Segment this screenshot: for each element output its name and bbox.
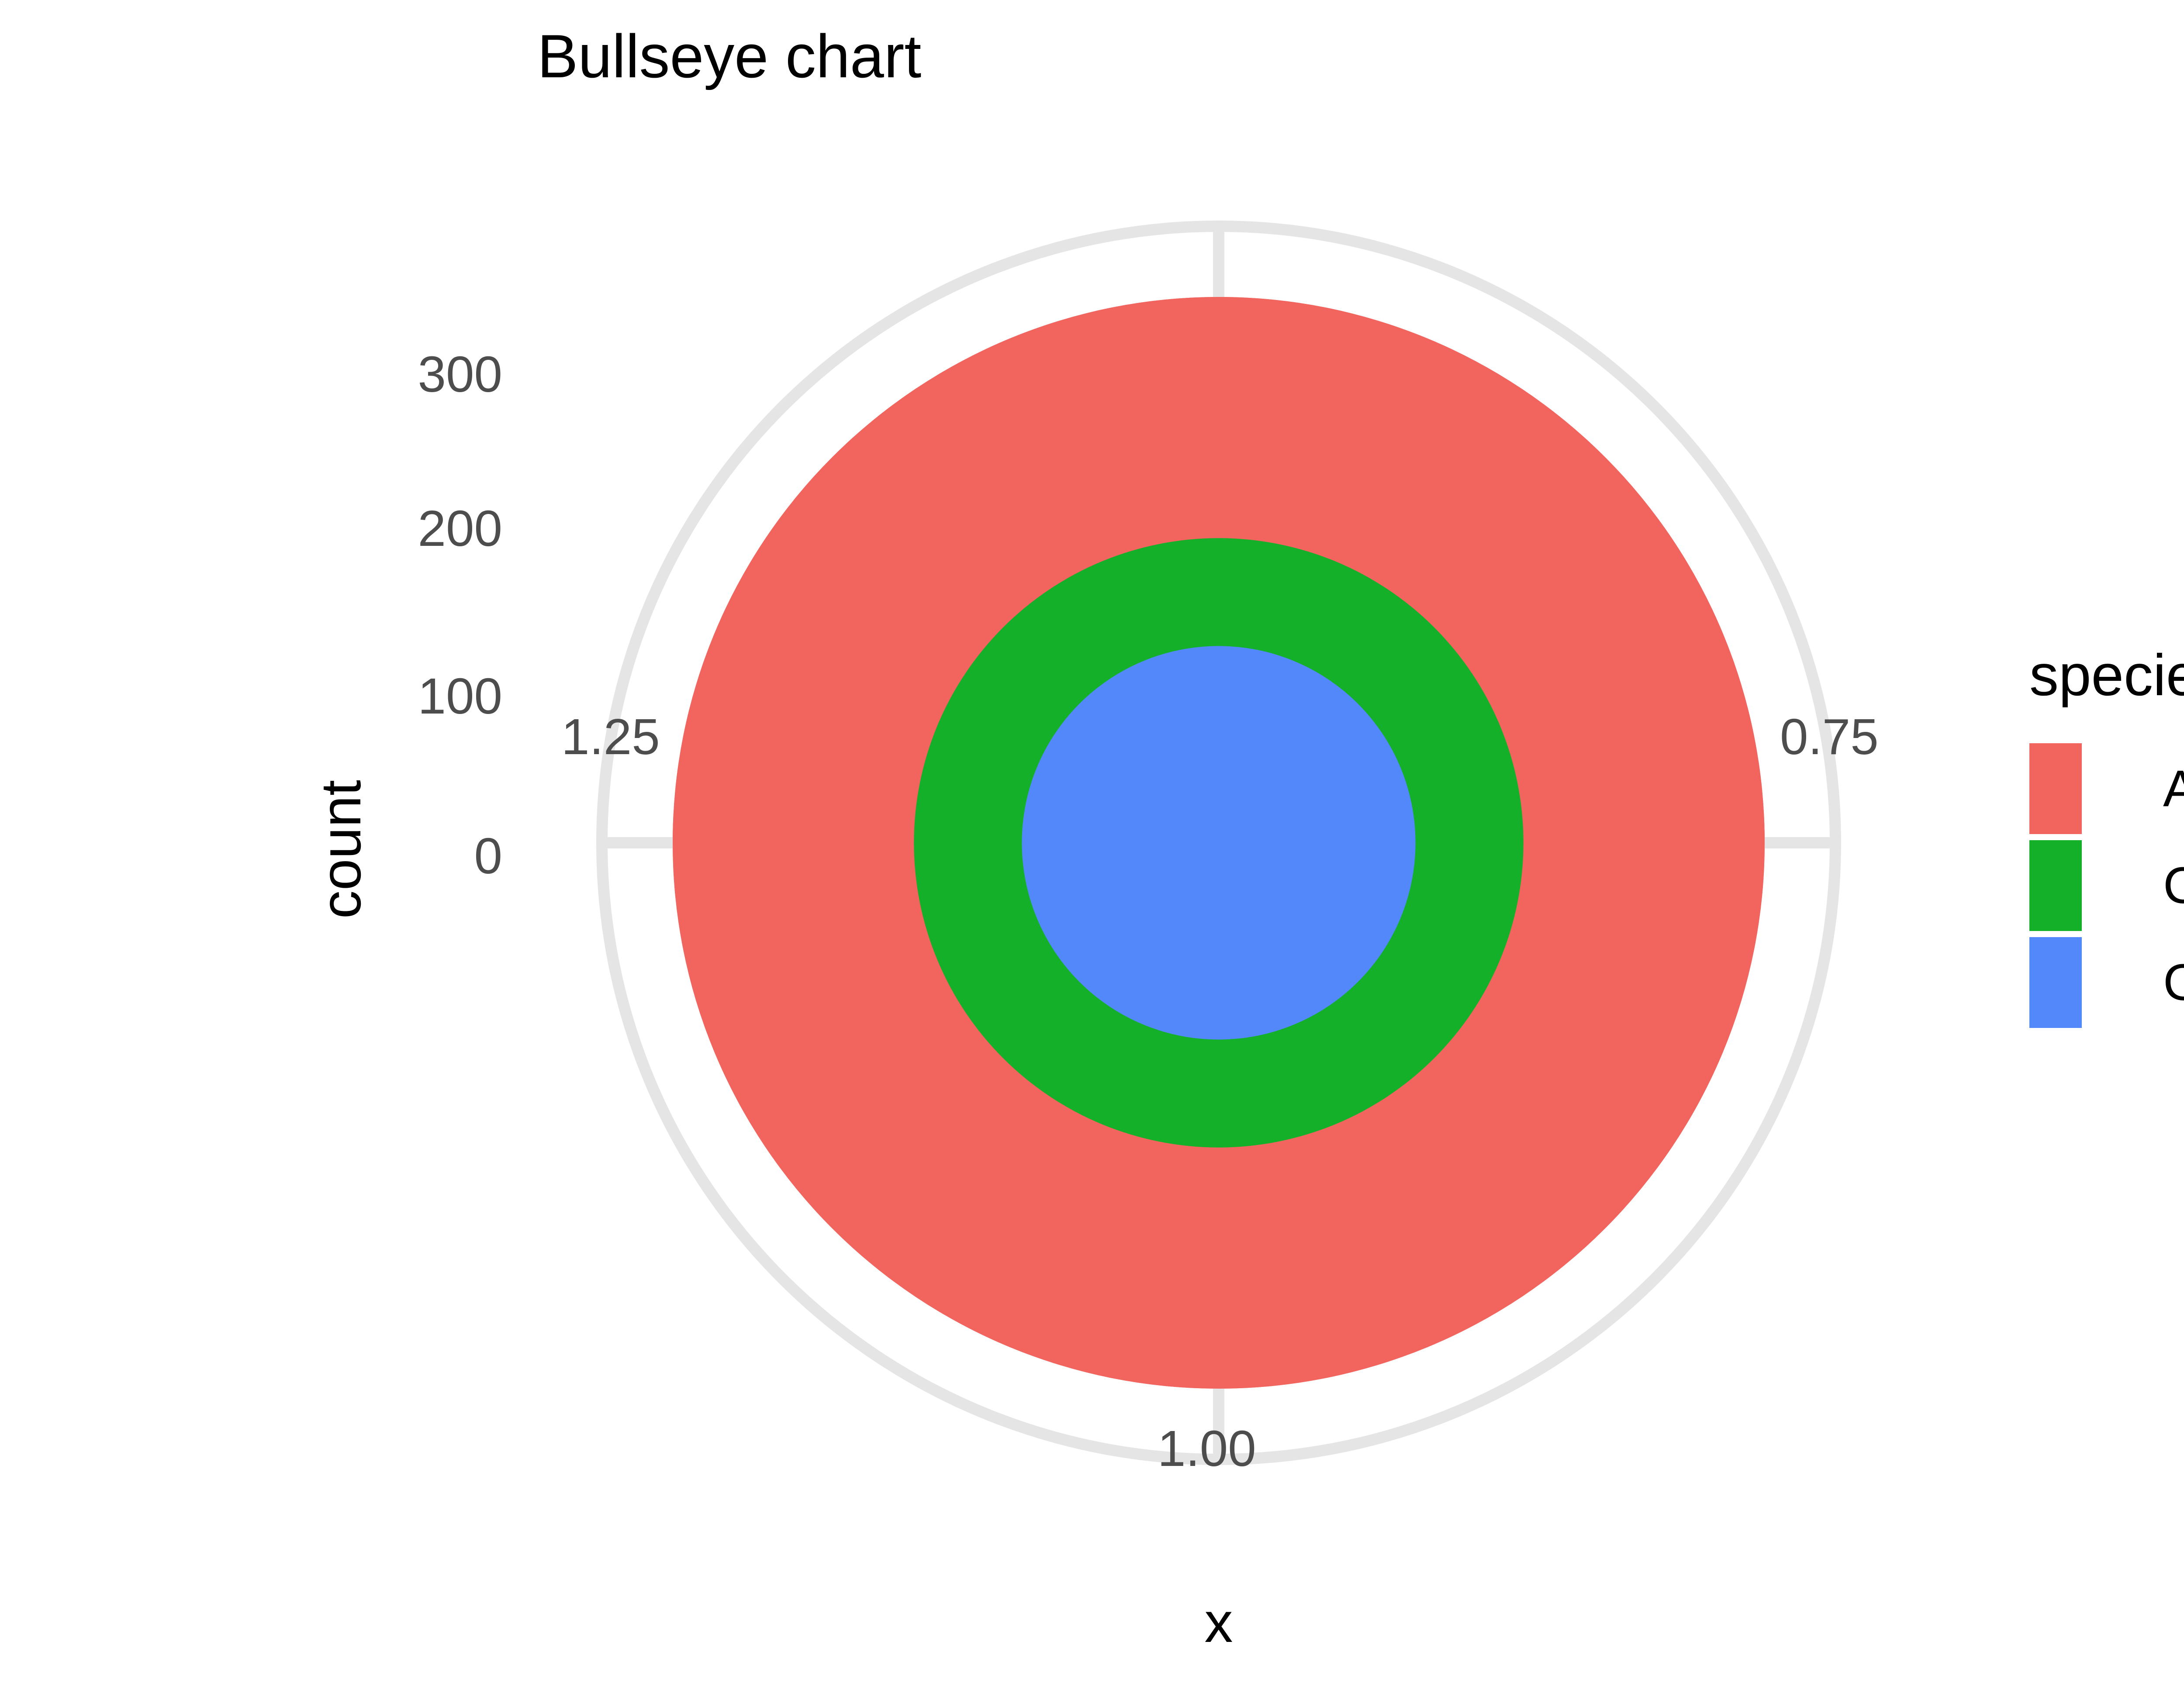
legend-swatch-chinstrap	[2029, 840, 2082, 931]
legend-title: species	[2029, 642, 2184, 709]
legend-item-gentoo[interactable]: Gentoo	[2018, 934, 2184, 1031]
x-axis-title: x	[1153, 1590, 1284, 1655]
x-tick-label-100: 1.00	[1158, 1419, 1256, 1478]
x-tick-label-125: 1.25	[561, 707, 660, 766]
legend-item-chinstrap[interactable]: Chinstrap	[2018, 837, 2184, 934]
legend-label-adelie: Adelie	[2163, 759, 2184, 818]
y-tick-label-100: 100	[306, 667, 502, 725]
y-tick-label-200: 200	[306, 499, 502, 558]
legend: species Adelie Chinstrap Gentoo	[2018, 642, 2184, 1031]
legend-label-gentoo: Gentoo	[2163, 953, 2184, 1012]
x-tick-label-075: 0.75	[1780, 707, 1879, 766]
plot-panel: 300 200 100 0 1.25 0.75 1.00 count x	[0, 0, 1966, 1700]
legend-item-adelie[interactable]: Adelie	[2018, 740, 2184, 837]
polar-bullseye-chart	[0, 0, 1966, 1700]
legend-swatch-gentoo	[2029, 937, 2082, 1028]
y-axis-title: count	[308, 753, 373, 945]
ring-gentoo-overlay	[1022, 646, 1415, 1039]
legend-label-chinstrap: Chinstrap	[2163, 856, 2184, 915]
y-tick-label-300: 300	[306, 345, 502, 403]
legend-swatch-adelie	[2029, 743, 2082, 834]
